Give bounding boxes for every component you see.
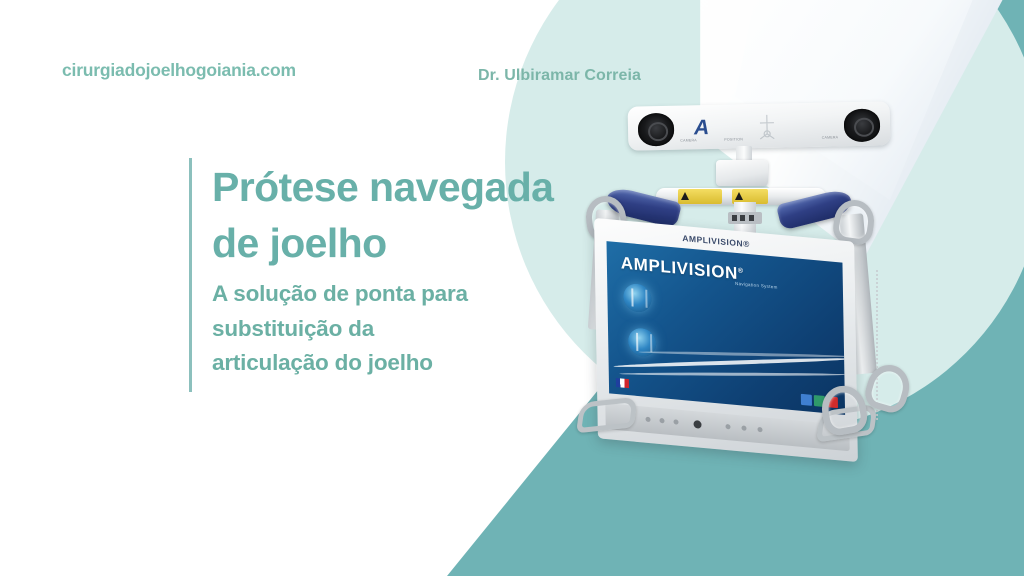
warning-label-left: [678, 189, 722, 204]
subheadline-line-1: A solução de ponta para: [212, 277, 572, 312]
surgical-navigation-device: A CAMERA POSITION CAMERA AMPLIVISION®: [560, 90, 960, 540]
camera-label-right: CAMERA: [822, 135, 839, 139]
monitor-led-indicator: [741, 425, 746, 430]
port-slot: [749, 215, 754, 221]
screen-swoosh-decor: [613, 357, 845, 369]
device-port-panel: [728, 212, 762, 224]
french-flag-icon: [616, 378, 629, 388]
monitor-led-indicator: [757, 427, 762, 432]
monitor-led-indicator: [673, 419, 678, 424]
screen-swoosh-decor: [619, 372, 845, 376]
screen-orb-icon: [623, 283, 651, 314]
warning-triangle-icon: [681, 192, 689, 200]
monitor-bezel-brand: AMPLIVISION®: [682, 233, 750, 249]
monitor-power-button[interactable]: [693, 420, 701, 429]
site-url[interactable]: cirurgiadojoelhogoiania.com: [62, 60, 296, 81]
camera-mount-box: [716, 160, 768, 186]
camera-center-marker-icon: [756, 114, 779, 140]
port-slot: [740, 215, 745, 221]
warning-triangle-icon: [735, 192, 743, 200]
promotional-banner: cirurgiadojoelhogoiania.com Dr. Ulbirama…: [0, 0, 1024, 576]
camera-brand-logo-icon: A: [694, 117, 722, 140]
screen-brand-registered: ®: [738, 267, 744, 275]
camera-label-left: CAMERA: [680, 138, 697, 142]
accent-bar: [189, 158, 192, 392]
screen-swoosh-decor: [638, 351, 845, 359]
screen-button-blue[interactable]: [801, 394, 812, 406]
screen-brand-text: AMPLIVISION: [621, 253, 738, 283]
camera-lens-right-icon: [844, 108, 881, 142]
screen-tagline: Navigation System: [735, 281, 778, 290]
subheadline-line-2: substituição da: [212, 312, 572, 347]
screen-brand-logo: AMPLIVISION®: [621, 253, 744, 284]
port-slot: [732, 215, 737, 221]
monitor-led-indicator: [725, 424, 730, 429]
camera-lens-left-icon: [638, 113, 675, 147]
monitor-screen[interactable]: AMPLIVISION® Navigation System: [606, 241, 845, 415]
monitor-led-indicator: [659, 418, 664, 423]
camera-label-center: POSITION: [724, 137, 743, 141]
subheadline-line-3: articulação do joelho: [212, 346, 572, 381]
navigation-camera-bar: A CAMERA POSITION CAMERA: [628, 101, 891, 150]
doctor-name: Dr. Ulbiramar Correia: [478, 67, 641, 85]
page-subtitle: A solução de ponta para substituição da …: [212, 277, 572, 381]
monitor-led-indicator: [645, 417, 650, 422]
